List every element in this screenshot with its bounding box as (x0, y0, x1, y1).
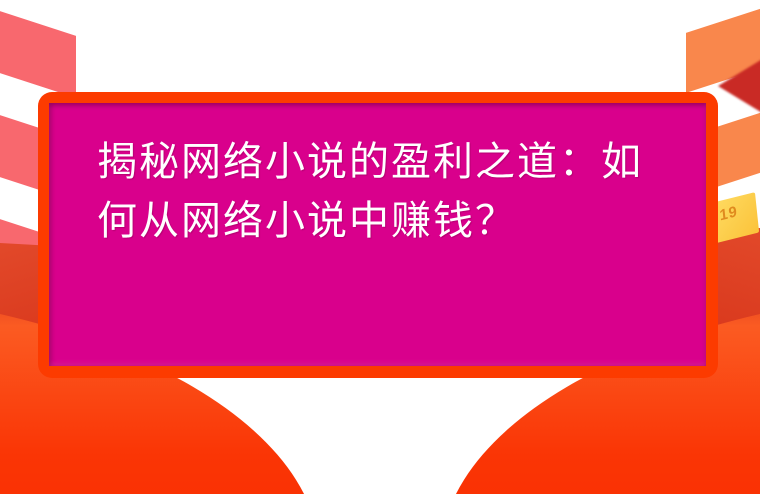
page-title: 揭秘网络小说的盈利之道：如何从网络小说中赚钱？ (97, 133, 657, 251)
left-stripe-1 (0, 0, 76, 98)
tag-label: 19 (719, 203, 739, 225)
title-card: 揭秘网络小说的盈利之道：如何从网络小说中赚钱？ (38, 92, 718, 378)
title-card-inner: 揭秘网络小说的盈利之道：如何从网络小说中赚钱？ (49, 103, 706, 366)
left-pointing-arrow-icon (718, 58, 760, 114)
poster-canvas: 19 揭秘网络小说的盈利之道：如何从网络小说中赚钱？ (0, 0, 760, 494)
